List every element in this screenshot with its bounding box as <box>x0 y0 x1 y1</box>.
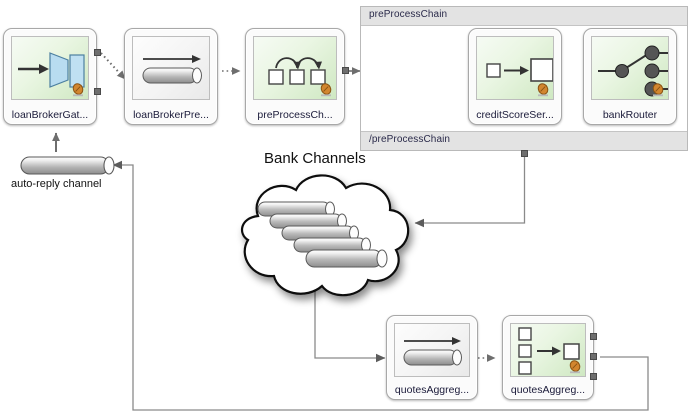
diagram-canvas: Bank Channels preProcessChain /preProces… <box>0 0 688 419</box>
node-loanbrokergateway[interactable]: loanBrokerGat... <box>3 28 97 125</box>
node-label: loanBrokerPre... <box>125 109 217 121</box>
node-bankrouter[interactable]: bankRouter <box>583 28 677 125</box>
node-label: quotesAggreg... <box>387 384 477 396</box>
gateway-icon <box>11 36 89 100</box>
port-aggregator-bottom[interactable] <box>590 373 597 380</box>
node-quotesaggregator-channel[interactable]: quotesAggreg... <box>386 315 478 400</box>
group-footer-label: /preProcessChain <box>361 131 687 150</box>
edge-group-to-cloud <box>415 154 525 223</box>
node-loanbrokerprechannel[interactable]: loanBrokerPre... <box>124 28 218 125</box>
spring-bean-badge-icon <box>567 359 583 375</box>
port-aggregator-top[interactable] <box>590 333 597 340</box>
group-port-bottom[interactable] <box>521 150 528 157</box>
spring-bean-badge-icon <box>318 82 334 98</box>
channel-icon <box>132 36 210 100</box>
node-label: quotesAggreg... <box>503 384 593 396</box>
edge-gateway-to-prechannel <box>101 53 125 79</box>
auto-reply-channel-shape[interactable] <box>18 152 128 180</box>
service-activator-icon <box>476 36 554 100</box>
node-label: bankRouter <box>584 109 676 121</box>
node-preprocesschain[interactable]: preProcessCh... <box>245 28 345 125</box>
channel-icon <box>394 323 470 377</box>
node-creditscoreservice[interactable]: creditScoreSer... <box>468 28 562 125</box>
port-gateway-out-bottom[interactable] <box>94 88 101 95</box>
port-aggregator-mid[interactable] <box>590 353 597 360</box>
cloud-title: Bank Channels <box>264 150 366 167</box>
port-preprocesschain-out[interactable] <box>342 67 349 74</box>
port-gateway-out-top[interactable] <box>94 49 101 56</box>
chain-icon <box>253 36 337 100</box>
router-icon <box>591 36 669 100</box>
aggregator-icon <box>510 323 586 377</box>
auto-reply-channel-label: auto-reply channel <box>11 178 102 190</box>
spring-bean-badge-icon <box>650 82 666 98</box>
bank-channels-cloud <box>200 168 430 318</box>
group-header-label: preProcessChain <box>361 7 687 26</box>
spring-bean-badge-icon <box>70 82 86 98</box>
node-label: creditScoreSer... <box>469 109 561 121</box>
spring-bean-badge-icon <box>535 82 551 98</box>
node-quotesaggregator[interactable]: quotesAggreg... <box>502 315 594 400</box>
node-label: preProcessCh... <box>246 109 344 121</box>
node-label: loanBrokerGat... <box>4 109 96 121</box>
